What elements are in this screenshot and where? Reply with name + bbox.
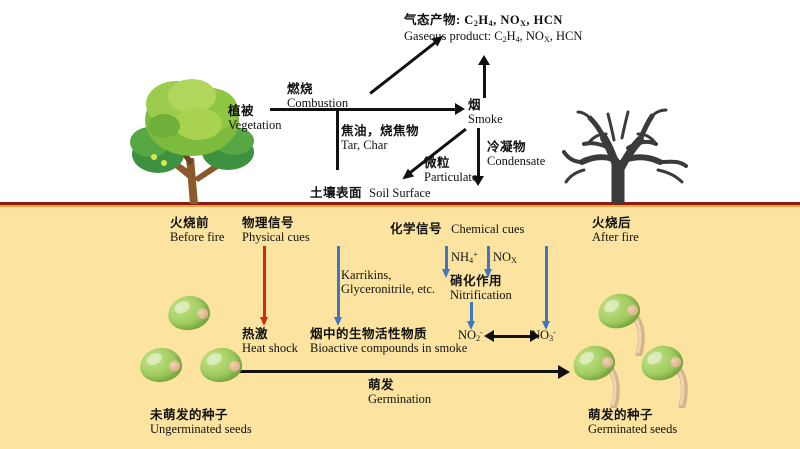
arrow-nitrite-nitrate-line xyxy=(492,335,534,338)
gaseous-product-cn: 气态产物: C2H4, NOX, HCN xyxy=(404,13,582,29)
ammonium-formula: NH4+ xyxy=(451,250,478,264)
ungerminated-seed xyxy=(166,293,212,333)
label-soil-surface: 土壤表面 Soil Surface xyxy=(310,186,431,200)
arrow-vegetation-to-smoke-head xyxy=(455,103,465,115)
label-particulate: 微粒 Particulate xyxy=(424,156,477,184)
soil-accent-line xyxy=(0,205,800,207)
label-after-fire: 火烧后 After fire xyxy=(592,216,639,244)
burnt-tree-illustration xyxy=(548,104,700,204)
arrow-karrikins-blue xyxy=(337,246,340,318)
arrow-nitrification-to-nitrite-blue xyxy=(470,302,473,322)
label-ammonium: NH4+ xyxy=(451,250,478,266)
arrow-tar-char-branch xyxy=(336,108,339,170)
label-germination: 萌发 Germination xyxy=(368,378,431,406)
label-condensate: 冷凝物 Condensate xyxy=(487,140,545,168)
arrow-smoke-to-gaseous-stem xyxy=(483,64,486,98)
arrow-nitrite-nitrate-head-left xyxy=(484,330,494,342)
label-smoke: 烟 Smoke xyxy=(468,98,503,126)
arrow-condensate-stem xyxy=(477,128,480,180)
label-nitrification: 硝化作用 Nitrification xyxy=(450,274,512,302)
label-physical-cues: 物理信号 Physical cues xyxy=(242,216,310,244)
arrow-smoke-to-gaseous-head xyxy=(478,55,490,65)
label-karrikins: Karrikins, Glyceronitrile, etc. xyxy=(341,268,435,296)
arrow-nitrite-nitrate-head-right xyxy=(530,330,540,342)
label-chemical-cues: 化学信号 Chemical cues xyxy=(390,222,524,236)
label-combustion: 燃烧 Combustion xyxy=(287,82,348,110)
label-before-fire: 火烧前 Before fire xyxy=(170,216,224,244)
arrow-condensate-head xyxy=(472,176,484,186)
label-germinated-seeds: 萌发的种子 Germinated seeds xyxy=(588,408,677,436)
label-ungerminated-seeds: 未萌发的种子 Ungerminated seeds xyxy=(150,408,252,436)
arrow-vegetation-to-smoke xyxy=(270,108,458,111)
arrow-ammonium-blue xyxy=(445,246,448,270)
label-bioactive-compounds: 烟中的生物活性物质 Bioactive compounds in smoke xyxy=(310,327,467,355)
nitrite-formula: NO2- xyxy=(458,328,483,342)
arrow-germination-head xyxy=(558,365,570,379)
ungerminated-seed xyxy=(138,346,183,384)
arrow-nox-blue xyxy=(487,246,490,270)
label-nitrite: NO2- xyxy=(458,328,483,344)
arrow-physical-cues-red xyxy=(263,246,266,318)
ungerminated-seed xyxy=(198,346,243,384)
below-ground-soil-region xyxy=(0,202,800,449)
label-nox: NOX xyxy=(493,250,517,266)
label-heat-shock: 热激 Heat shock xyxy=(242,327,298,355)
label-gaseous-product: 气态产物: C2H4, NOX, HCN Gaseous product: C2… xyxy=(404,13,582,45)
green-tree-illustration xyxy=(128,62,256,204)
arrow-germination-line xyxy=(222,370,562,373)
diagram-canvas: 植被 Vegetation 燃烧 Combustion 焦油，烧焦物 Tar, … xyxy=(0,0,800,449)
label-tar-char: 焦油，烧焦物 Tar, Char xyxy=(341,124,419,152)
nox-formula: NOX xyxy=(493,250,517,264)
arrow-to-nitrate-blue xyxy=(545,246,548,322)
